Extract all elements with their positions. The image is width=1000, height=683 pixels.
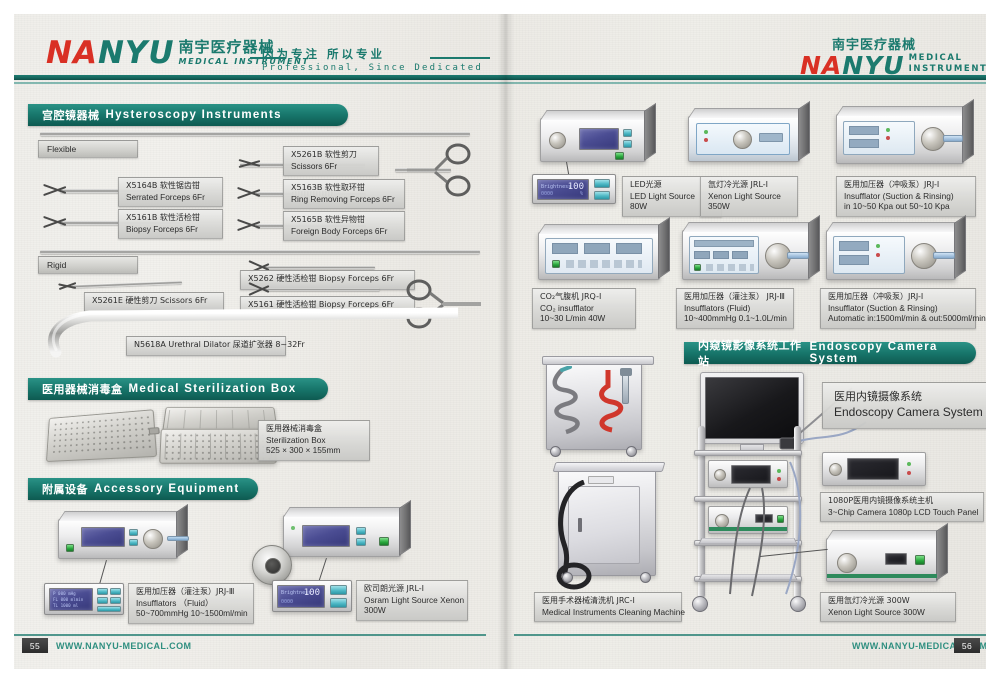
section-hysteroscopy-en: Hysteroscopy Instruments bbox=[106, 109, 282, 121]
caption-x5261b: X5261B 软性剪刀 Scissors 6Fr bbox=[283, 146, 379, 176]
caption-x5163b: X5163B 软性取环钳 Ring Removing Forceps 6Fr bbox=[283, 179, 405, 209]
page-number-right: 56 bbox=[954, 638, 980, 653]
device-camera-main-unit bbox=[822, 452, 926, 486]
brand-subtitle-right: MEDICAL INSTRUMENT bbox=[909, 53, 988, 74]
device-co2-insufflator bbox=[538, 232, 660, 280]
brand-wordmark: NANYU bbox=[46, 39, 175, 68]
brand-name-cn-right: 南宇医疗器械 bbox=[832, 34, 987, 53]
caption-x5161b: X5161B 软性活检钳 Biopsy Forceps 6Fr bbox=[118, 209, 223, 239]
caption-xenon-300w: 医用氙灯冷光源 300W Xenon Light Source 300W bbox=[820, 592, 956, 622]
brand-wordmark-right: NANYU bbox=[800, 54, 905, 77]
caption-x5164b: X5164B 软性锯齿钳 Serrated Forceps 6Fr bbox=[118, 177, 223, 207]
device-insufflator-suction-1 bbox=[836, 114, 964, 164]
device-cleaning-machine-upper bbox=[538, 352, 658, 460]
forceps-jaw-icon bbox=[238, 158, 260, 170]
section-hysteroscopy-cn: 宫腔镜器械 bbox=[42, 107, 100, 123]
caption-xenon-light-source: 氙灯冷光源 JRL-Ⅰ Xenon Light Source 350W bbox=[700, 176, 798, 217]
caption-camera-system-callout: 医用内镜摄像系统 Endoscopy Camera System bbox=[822, 382, 992, 429]
footer-rule-right bbox=[514, 634, 986, 636]
equipment-cart bbox=[690, 418, 820, 610]
scissors-jaw-icon bbox=[58, 280, 76, 292]
brightness-label: Brightness bbox=[541, 184, 571, 190]
forceps-jaw-icon bbox=[247, 282, 269, 296]
section-camera-system-en: Endoscopy Camera System bbox=[810, 341, 976, 365]
panel-led-light-source: Brightness 100 0000 % bbox=[532, 174, 616, 204]
device-insufflator-fluid bbox=[58, 519, 178, 559]
caption-co2-insufflator: CO₂气腹机 JRQ-Ⅰ CO₂ insufflator 10~30 L/min… bbox=[532, 288, 636, 329]
page-number-left: 55 bbox=[22, 638, 48, 653]
catalog-spread: NANYU 南宇医疗器械 MEDICAL INSTRUMENT 因为专注 所以专… bbox=[0, 0, 1000, 683]
logo-right: 南宇医疗器械 NANYU MEDICAL INSTRUMENT bbox=[800, 34, 987, 77]
slogan-en: Professional, Since Dedicated bbox=[262, 63, 562, 73]
section-accessory-en: Accessory Equipment bbox=[94, 483, 240, 495]
panel-osram-light-source: Brightness 100 0000 bbox=[272, 580, 352, 612]
caption-accessory-2: 欧司朗光源 JRL-Ⅰ Osram Light Source Xenon 300… bbox=[356, 580, 468, 621]
caption-insufflators-fluid: 医用加压器（灌注泵） JRJ-Ⅲ Insufflators (Fluid) 10… bbox=[676, 288, 794, 329]
device-xenon-300w bbox=[826, 538, 938, 582]
caption-camera-main-unit: 1080P医用内镜摄像系统主机 3~Chip Camera 1080p LCD … bbox=[820, 492, 984, 522]
section-hysteroscopy: 宫腔镜器械 Hysteroscopy Instruments bbox=[28, 104, 348, 126]
screen-unit: % bbox=[580, 191, 583, 197]
screen-sub-label: 0000 bbox=[541, 191, 553, 197]
section-sterilization-en: Medical Sterilization Box bbox=[129, 383, 297, 395]
slogan-cn: 因为专注 所以专业 bbox=[262, 46, 562, 62]
device-cleaning-machine-lower bbox=[548, 460, 670, 590]
section-camera-system: 内窥镜影像系统工作站 Endoscopy Camera System bbox=[684, 342, 976, 364]
section-accessory-cn: 附属设备 bbox=[42, 481, 88, 497]
instrument-shaft-long-2 bbox=[40, 250, 480, 254]
book-spine bbox=[498, 14, 514, 669]
light-port-icon bbox=[252, 545, 292, 585]
caption-sterilization-box: 医用器械消毒盒 Sterilization Box 525 × 300 × 15… bbox=[258, 420, 370, 461]
forceps-jaw-icon bbox=[236, 186, 260, 200]
section-sterilization: 医用器械消毒盒 Medical Sterilization Box bbox=[28, 378, 328, 400]
device-insufflators-fluid bbox=[682, 230, 810, 280]
device-xenon-light-source bbox=[688, 116, 800, 162]
forceps-jaw-icon bbox=[42, 183, 66, 197]
device-osram-light-source bbox=[283, 515, 401, 557]
brightness-value: 100 bbox=[304, 588, 320, 598]
panel-insufflator-fluid: P 000 mHgFL 000 mlminTL 1000 ml bbox=[44, 583, 124, 615]
sterilization-box-closed bbox=[46, 409, 157, 462]
section-camera-system-cn: 内窥镜影像系统工作站 bbox=[698, 337, 804, 369]
footer-rule-left bbox=[14, 634, 486, 636]
forceps-jaw-icon bbox=[42, 215, 66, 229]
caption-insufflator-suction-1: 医用加压器（冲吸泵）JRJ-Ⅰ Insufflator (Suction & R… bbox=[836, 176, 976, 217]
footer-url-left: WWW.NANYU-MEDICAL.COM bbox=[56, 641, 191, 651]
caption-cleaning-machine: 医用手术器械清洗机 JRC-Ⅰ Medical Instruments Clea… bbox=[534, 592, 682, 622]
instrument-handle-graphic-top bbox=[395, 140, 485, 230]
slogan-dash-right bbox=[430, 57, 490, 59]
section-accessory: 附属设备 Accessory Equipment bbox=[28, 478, 258, 500]
callout-line-1 bbox=[99, 560, 107, 585]
tag-flexible: Flexible bbox=[38, 140, 138, 158]
device-led-light-source bbox=[540, 118, 646, 162]
instrument-shaft-long bbox=[40, 132, 470, 136]
caption-insufflator-suction-2: 医用加压器（冲吸泵）JRJ-Ⅰ Insufflator (Suction & R… bbox=[820, 288, 976, 329]
caption-x5165b: X5165B 软性异物钳 Foreign Body Forceps 6Fr bbox=[283, 211, 405, 241]
forceps-jaw-icon bbox=[236, 218, 260, 232]
section-sterilization-cn: 医用器械消毒盒 bbox=[42, 381, 123, 397]
caption-accessory-1: 医用加压器（灌注泵）JRJ-Ⅲ Insufflators （Fluid） 50~… bbox=[128, 583, 254, 624]
screen-sub-label: 0000 bbox=[281, 599, 293, 605]
slogan-block: 因为专注 所以专业 Professional, Since Dedicated bbox=[262, 46, 562, 73]
tag-rigid: Rigid bbox=[38, 256, 138, 274]
caption-n5618a: N5618A Urethral Dilator 尿道扩张器 8~32Fr bbox=[126, 336, 286, 356]
device-insufflator-suction-2 bbox=[826, 230, 956, 280]
